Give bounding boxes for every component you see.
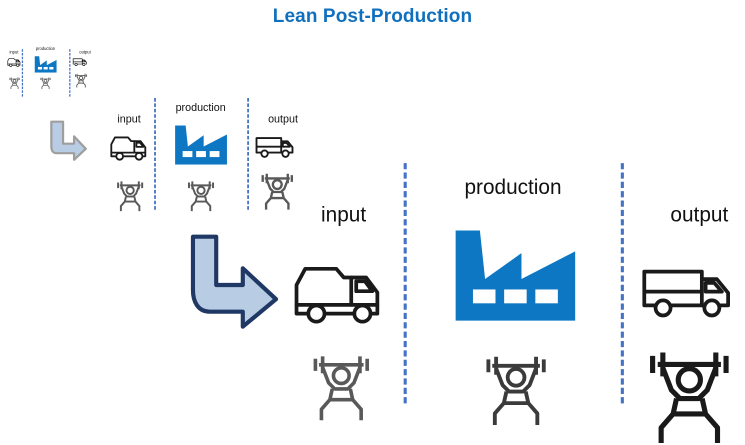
factory-icon — [445, 214, 584, 322]
dump-truck-icon — [109, 134, 151, 161]
delivery-van-icon — [72, 57, 88, 66]
label-output: output — [71, 50, 99, 55]
weightlifter-icon-input — [9, 76, 21, 90]
weightlifter-icon-production — [39, 76, 51, 90]
label-output: output — [251, 113, 315, 125]
label-production: production — [30, 46, 62, 51]
weightlifter-icon-output — [74, 72, 88, 88]
delivery-van-icon — [639, 262, 739, 322]
label-input: input — [290, 203, 398, 227]
label-input: input — [106, 113, 153, 125]
factory-icon — [33, 53, 58, 72]
diagram-canvas: Lean Post-Production input production ou… — [0, 0, 745, 445]
label-output: output — [630, 203, 745, 227]
weightlifter-icon-production — [481, 346, 552, 426]
divider-production-output — [247, 98, 249, 210]
page-title: Lean Post-Production — [0, 6, 745, 28]
divider-input-production — [404, 163, 407, 403]
label-production: production — [421, 175, 606, 199]
label-input: input — [6, 50, 22, 55]
curved-arrow-icon-large — [178, 230, 286, 330]
label-production: production — [161, 102, 240, 114]
weightlifter-icon-input — [115, 177, 146, 212]
divider-production-output — [621, 163, 624, 403]
dump-truck-icon — [7, 57, 22, 67]
delivery-van-icon — [254, 134, 297, 160]
weightlifter-icon-input — [308, 346, 374, 421]
weightlifter-icon-production — [186, 177, 217, 212]
divider-production-output — [69, 49, 70, 96]
curved-arrow-icon-small — [44, 118, 88, 162]
divider-input-production — [154, 98, 156, 210]
weightlifter-icon-output — [642, 339, 736, 445]
dump-truck-icon — [291, 260, 391, 325]
factory-icon — [170, 119, 231, 165]
